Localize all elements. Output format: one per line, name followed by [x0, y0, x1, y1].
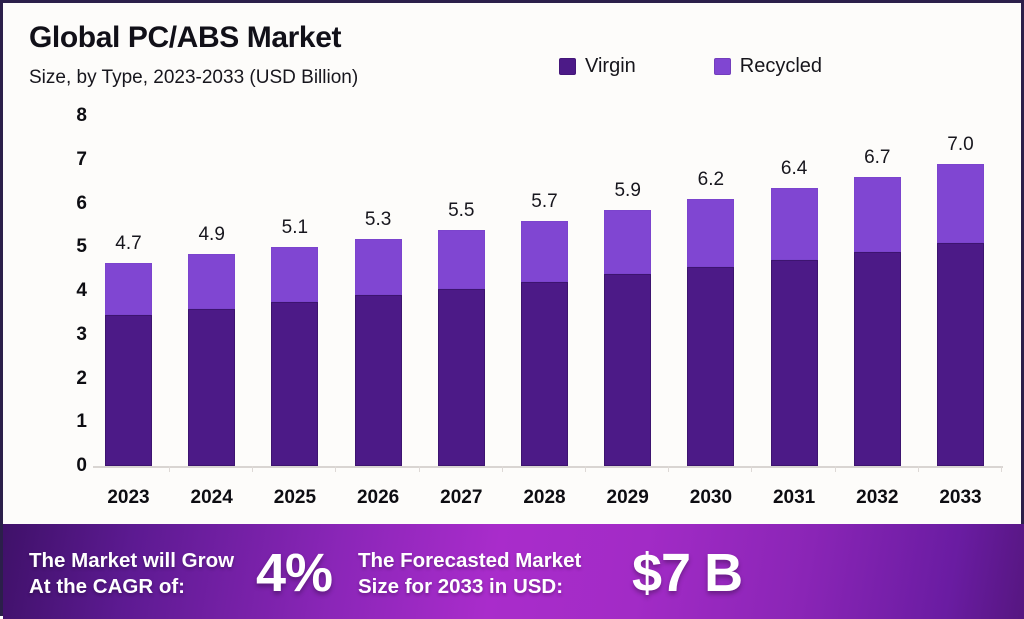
- forecast-value: $7 B: [632, 546, 742, 600]
- x-axis-tick: [918, 466, 919, 472]
- legend-item-label: Recycled: [740, 55, 822, 78]
- bar-column[interactable]: 7.0: [937, 164, 984, 466]
- legend-item-recycled[interactable]: Recycled: [714, 55, 822, 78]
- x-axis-tick-label: 2032: [856, 487, 898, 509]
- x-axis-tick-label: 2027: [440, 487, 482, 509]
- square-swatch-icon: [559, 58, 576, 75]
- x-axis-tick: [335, 466, 336, 472]
- bar-total-label: 6.2: [698, 169, 724, 191]
- y-axis-tick-label: 1: [76, 411, 87, 433]
- y-axis-tick-label: 6: [76, 193, 87, 215]
- bar-segment-recycled[interactable]: [604, 210, 651, 273]
- bar-total-label: 6.4: [781, 158, 807, 180]
- bar-total-label: 6.7: [864, 147, 890, 169]
- x-axis-tick: [169, 466, 170, 472]
- bar-segment-virgin[interactable]: [854, 252, 901, 466]
- y-axis-tick-label: 8: [76, 105, 87, 127]
- bar-segment-virgin[interactable]: [604, 274, 651, 467]
- x-axis-tick-label: 2033: [939, 487, 981, 509]
- x-axis-tick: [835, 466, 836, 472]
- bar-segment-virgin[interactable]: [937, 243, 984, 466]
- x-axis-tick: [1001, 466, 1002, 472]
- y-axis-tick-label: 2: [76, 368, 87, 390]
- forecast-caption-line1: The Forecasted Market: [358, 548, 581, 574]
- bar-segment-recycled[interactable]: [438, 230, 485, 289]
- x-axis-tick: [252, 466, 253, 472]
- bar-segment-virgin[interactable]: [687, 267, 734, 466]
- bar-total-label: 7.0: [947, 134, 973, 156]
- bar-total-label: 5.3: [365, 209, 391, 231]
- bar-column[interactable]: 6.4: [771, 188, 818, 466]
- bar-segment-recycled[interactable]: [188, 254, 235, 309]
- bar-total-label: 5.5: [448, 200, 474, 222]
- page-title: Global PC/ABS Market: [29, 21, 341, 55]
- x-axis-labels: 2023202420252026202720282029203020312032…: [93, 487, 1009, 513]
- y-axis-tick-label: 5: [76, 236, 87, 258]
- bar-segment-recycled[interactable]: [271, 247, 318, 302]
- legend-item-virgin[interactable]: Virgin: [559, 55, 636, 78]
- square-swatch-icon: [714, 58, 731, 75]
- infographic-page: Global PC/ABS Market Size, by Type, 2023…: [0, 0, 1024, 616]
- x-axis-tick-label: 2024: [191, 487, 233, 509]
- y-axis-tick-label: 0: [76, 455, 87, 477]
- bar-segment-virgin[interactable]: [355, 295, 402, 466]
- y-axis-tick-label: 4: [76, 280, 87, 302]
- cagr-value: 4%: [256, 546, 332, 600]
- page-subtitle: Size, by Type, 2023-2033 (USD Billion): [29, 67, 358, 89]
- bar-column[interactable]: 5.5: [438, 230, 485, 466]
- footer-banner: The Market will Grow At the CAGR of: 4% …: [3, 524, 1024, 619]
- bar-segment-virgin[interactable]: [105, 315, 152, 466]
- x-axis-tick-label: 2026: [357, 487, 399, 509]
- bar-segment-recycled[interactable]: [854, 177, 901, 251]
- x-axis-tick: [668, 466, 669, 472]
- bar-segment-recycled[interactable]: [937, 164, 984, 243]
- forecast-caption-line2: Size for 2033 in USD:: [358, 574, 563, 600]
- bar-segment-recycled[interactable]: [771, 188, 818, 259]
- x-axis-tick-label: 2025: [274, 487, 316, 509]
- cagr-caption-line1: The Market will Grow: [29, 548, 234, 574]
- bar-total-label: 5.9: [614, 180, 640, 202]
- bar-segment-recycled[interactable]: [355, 239, 402, 296]
- subtitle-unit: (USD Billion): [249, 67, 358, 88]
- y-axis-tick-label: 7: [76, 149, 87, 171]
- legend-item-label: Virgin: [585, 55, 636, 78]
- bar-column[interactable]: 5.9: [604, 210, 651, 466]
- chart-legend: Virgin Recycled: [559, 55, 822, 78]
- x-axis-tick-label: 2031: [773, 487, 815, 509]
- x-axis-tick: [585, 466, 586, 472]
- x-axis-tick-label: 2028: [523, 487, 565, 509]
- bar-segment-virgin[interactable]: [438, 289, 485, 466]
- x-axis-tick: [502, 466, 503, 472]
- bar-column[interactable]: 6.2: [687, 199, 734, 466]
- bar-total-label: 5.7: [531, 191, 557, 213]
- bar-column[interactable]: 4.9: [188, 254, 235, 466]
- bar-segment-recycled[interactable]: [105, 263, 152, 316]
- x-axis-tick: [751, 466, 752, 472]
- x-axis-tick: [419, 466, 420, 472]
- y-axis-labels: 012345678: [51, 116, 87, 468]
- x-axis-tick-label: 2029: [607, 487, 649, 509]
- bar-segment-recycled[interactable]: [687, 199, 734, 267]
- subtitle-main: Size, by Type, 2023-2033: [29, 67, 244, 88]
- bar-column[interactable]: 4.7: [105, 263, 152, 466]
- bar-segment-virgin[interactable]: [771, 260, 818, 467]
- bar-total-label: 5.1: [282, 217, 308, 239]
- bar-segment-virgin[interactable]: [271, 302, 318, 466]
- bar-column[interactable]: 5.1: [271, 247, 318, 466]
- bar-segment-recycled[interactable]: [521, 221, 568, 282]
- x-axis-line: [93, 466, 1003, 468]
- chart-plot-area: 012345678 4.74.95.15.35.55.75.96.26.46.7…: [51, 116, 1009, 468]
- bar-group: 4.74.95.15.35.55.75.96.26.46.77.0: [93, 116, 1009, 466]
- bar-total-label: 4.7: [115, 233, 141, 255]
- y-axis-tick-label: 3: [76, 324, 87, 346]
- x-axis-tick-label: 2023: [107, 487, 149, 509]
- bar-column[interactable]: 5.3: [355, 239, 402, 467]
- bar-total-label: 4.9: [198, 224, 224, 246]
- cagr-caption-line2: At the CAGR of:: [29, 574, 185, 600]
- bar-segment-virgin[interactable]: [188, 309, 235, 467]
- bar-segment-virgin[interactable]: [521, 282, 568, 466]
- x-axis-tick-label: 2030: [690, 487, 732, 509]
- bar-column[interactable]: 6.7: [854, 177, 901, 466]
- bar-column[interactable]: 5.7: [521, 221, 568, 466]
